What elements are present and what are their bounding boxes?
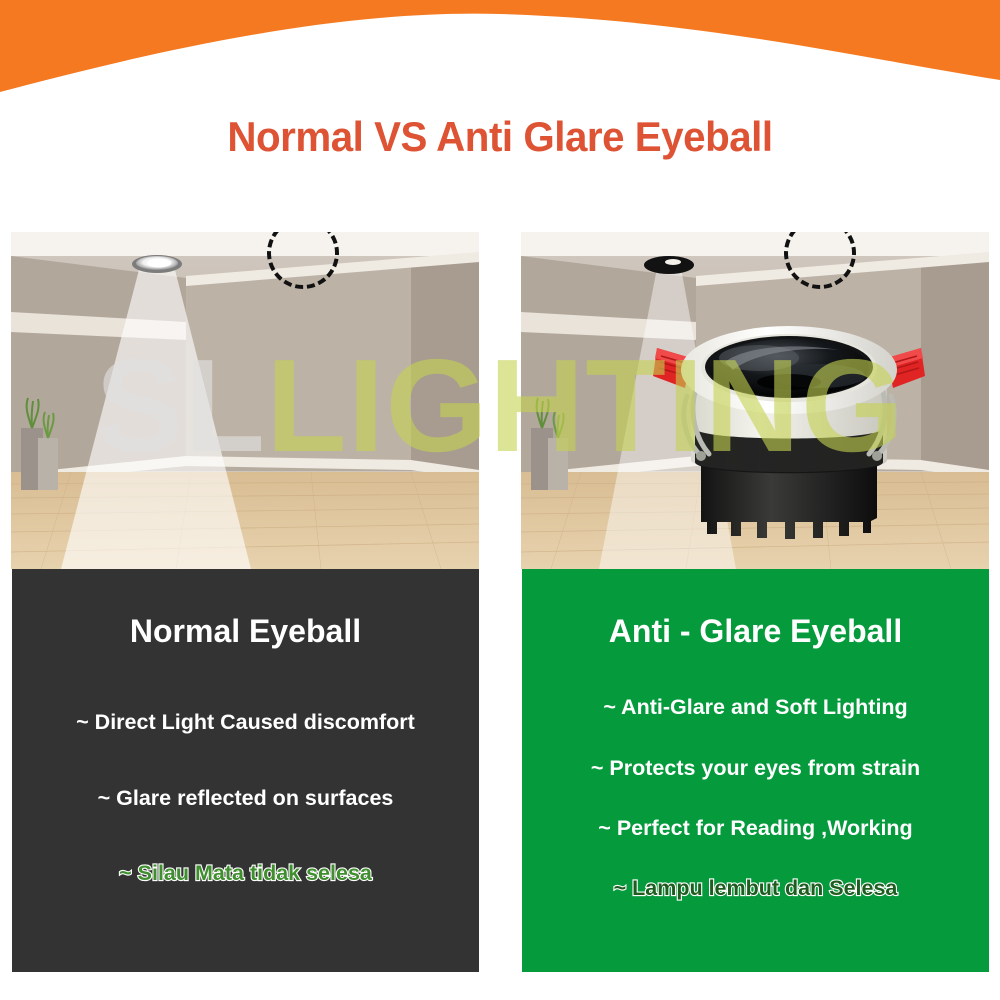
orange-wave-header — [0, 0, 1000, 110]
panel-title-antiglare: Anti - Glare Eyeball — [609, 613, 902, 650]
scene-antiglare-room — [521, 232, 989, 569]
page-title: Normal VS Anti Glare Eyeball — [20, 113, 980, 161]
comparison-column-normal: Normal Eyeball ~ Direct Light Caused dis… — [11, 232, 479, 972]
bullet-item: ~ Direct Light Caused discomfort — [76, 710, 415, 735]
room-illustration-normal — [11, 232, 479, 569]
infographic-page: Normal VS Anti Glare Eyeball — [0, 0, 1000, 1000]
product-antiglare-downlight — [639, 300, 939, 569]
panel-title-normal: Normal Eyeball — [130, 613, 361, 650]
bullet-item-highlight: ~ Silau Mata tidak selesa — [119, 861, 372, 886]
bullet-list-antiglare: ~ Anti-Glare and Soft Lighting ~ Protect… — [536, 650, 975, 962]
wave-shape — [0, 0, 1000, 110]
bullet-item: ~ Perfect for Reading ,Working — [598, 816, 912, 841]
bullet-list-normal: ~ Direct Light Caused discomfort ~ Glare… — [26, 650, 465, 962]
scene-normal-room — [11, 232, 479, 569]
comparison-column-antiglare: Anti - Glare Eyeball ~ Anti-Glare and So… — [521, 232, 989, 972]
bullet-item-highlight: ~ Lampu lembut dan Selesa — [614, 876, 898, 901]
panel-normal-eyeball: Normal Eyeball ~ Direct Light Caused dis… — [12, 569, 479, 972]
downlight-product-illustration — [639, 300, 939, 569]
bullet-item: ~ Glare reflected on surfaces — [98, 786, 394, 811]
panel-antiglare-eyeball: Anti - Glare Eyeball ~ Anti-Glare and So… — [522, 569, 989, 972]
bullet-item: ~ Anti-Glare and Soft Lighting — [603, 695, 907, 720]
bullet-item: ~ Protects your eyes from strain — [591, 756, 920, 781]
